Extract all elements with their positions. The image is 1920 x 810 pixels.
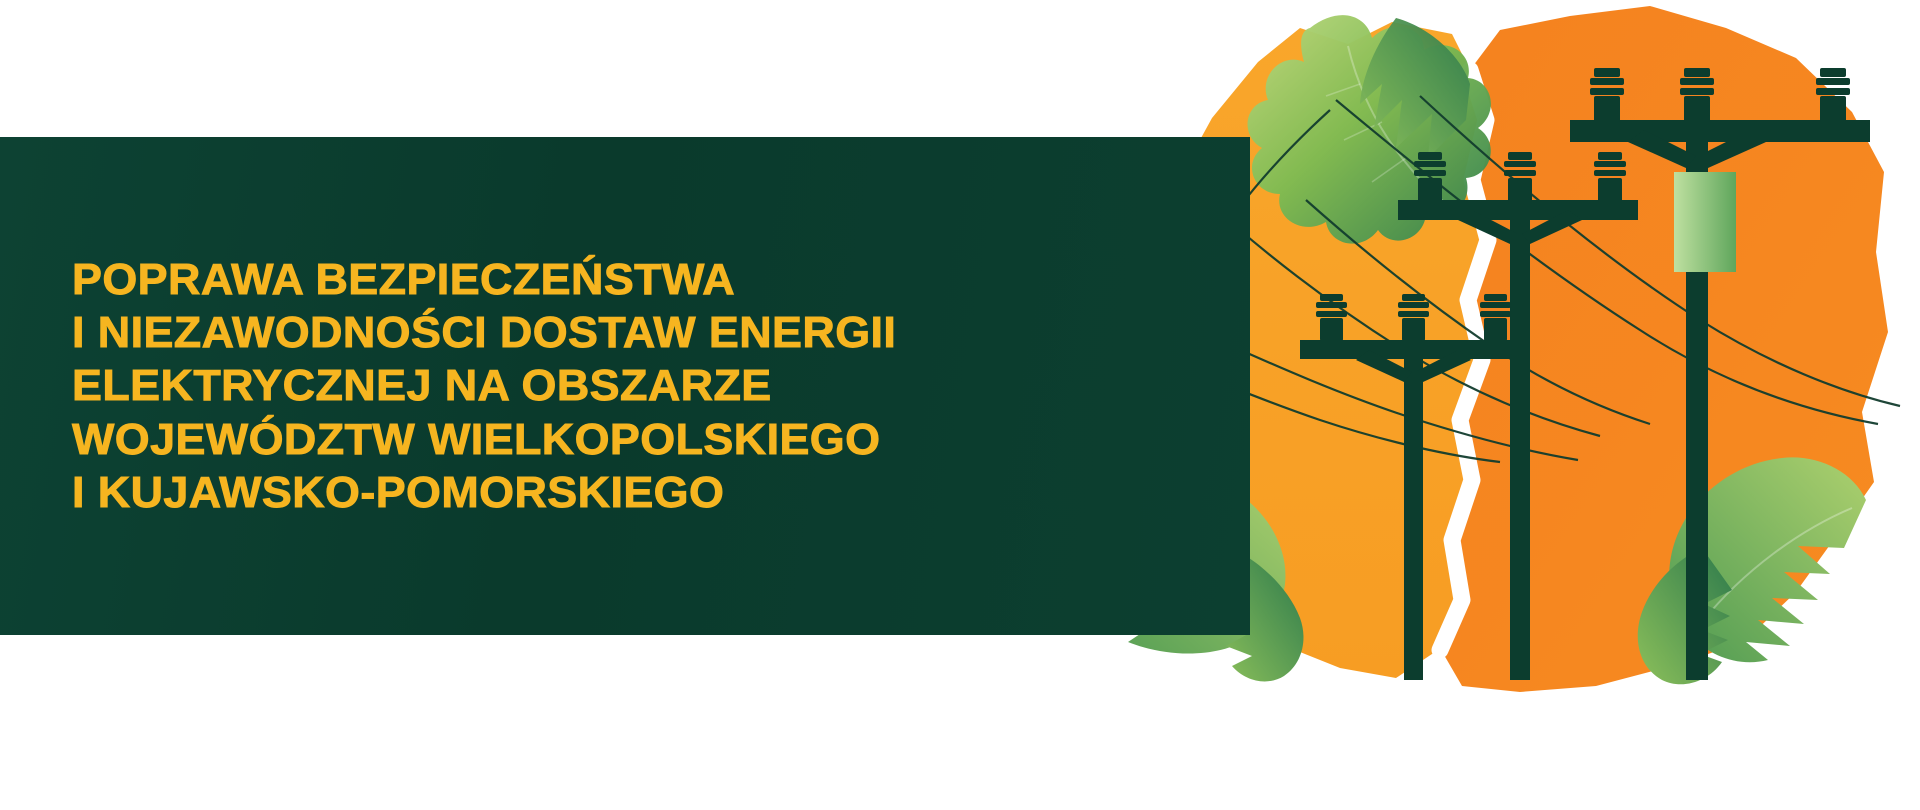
title-line-4: WOJEWÓDZTW WIELKOPOLSKIEGO xyxy=(72,413,1274,466)
insulator xyxy=(1680,68,1714,122)
funding-logo-strip: Fundusze Europejskie Infrastruktura i Śr… xyxy=(0,635,1920,810)
insulator xyxy=(1590,68,1624,122)
title-line-2: I NIEZAWODNOŚCI DOSTAW ENERGII xyxy=(72,306,1274,359)
project-banner: POPRAWA BEZPIECZEŃSTWA I NIEZAWODNOŚCI D… xyxy=(0,0,1920,810)
title-line-5: I KUJAWSKO-POMORSKIEGO xyxy=(72,466,1274,519)
title-line-3: ELEKTRYCZNEJ NA OBSZARZE xyxy=(72,359,1274,412)
banner-title: POPRAWA BEZPIECZEŃSTWA I NIEZAWODNOŚCI D… xyxy=(0,137,1250,635)
title-line-1: POPRAWA BEZPIECZEŃSTWA xyxy=(72,253,1274,306)
insulator xyxy=(1816,68,1850,122)
